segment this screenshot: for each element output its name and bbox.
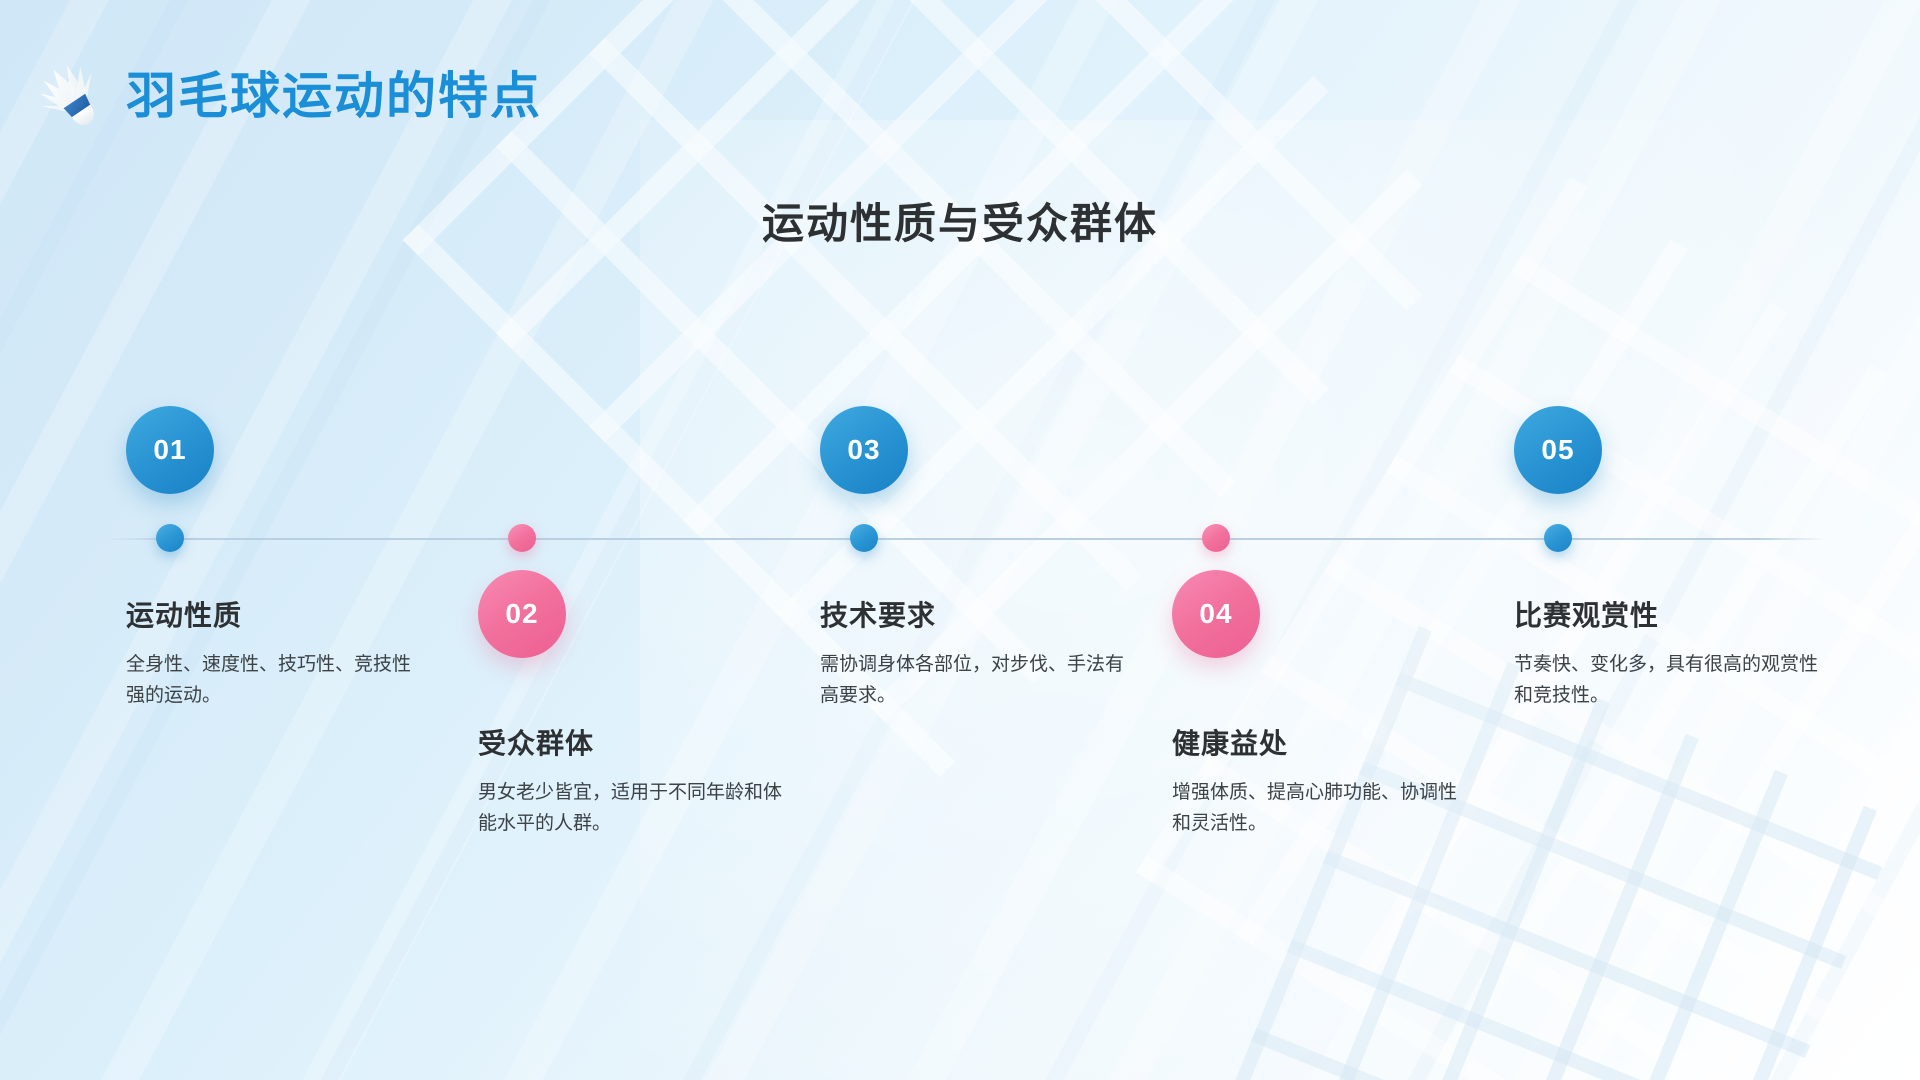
timeline-dot-03 (850, 524, 878, 552)
slide-canvas: 羽毛球运动的特点 运动性质与受众群体 01 运动性质 全身性、速度性、技巧性、竞… (0, 0, 1920, 1080)
timeline-desc-04: 增强体质、提高心肺功能、协调性和灵活性。 (1172, 778, 1472, 840)
timeline-badge-01[interactable]: 01 (126, 406, 214, 494)
timeline-title-03: 技术要求 (820, 594, 936, 634)
timeline-desc-02: 男女老少皆宜，适用于不同年龄和体能水平的人群。 (478, 778, 783, 840)
timeline-title-04: 健康益处 (1172, 722, 1288, 762)
timeline-badge-04[interactable]: 04 (1172, 570, 1260, 658)
timeline-dot-01 (156, 524, 184, 552)
timeline-title-02: 受众群体 (478, 722, 594, 762)
timeline-title-05: 比赛观赏性 (1514, 594, 1659, 634)
timeline-desc-03: 需协调身体各部位，对步伐、手法有高要求。 (820, 650, 1135, 712)
timeline-badge-05[interactable]: 05 (1514, 406, 1602, 494)
timeline-badge-03[interactable]: 03 (820, 406, 908, 494)
timeline-desc-01: 全身性、速度性、技巧性、竞技性强的运动。 (126, 650, 426, 712)
timeline: 01 运动性质 全身性、速度性、技巧性、竞技性强的运动。 02 受众群体 男女老… (0, 0, 1920, 1080)
timeline-title-01: 运动性质 (126, 594, 242, 634)
timeline-dot-02 (508, 524, 536, 552)
timeline-dot-04 (1202, 524, 1230, 552)
timeline-badge-02[interactable]: 02 (478, 570, 566, 658)
timeline-dot-05 (1544, 524, 1572, 552)
timeline-desc-05: 节奏快、变化多，具有很高的观赏性和竞技性。 (1514, 650, 1819, 712)
